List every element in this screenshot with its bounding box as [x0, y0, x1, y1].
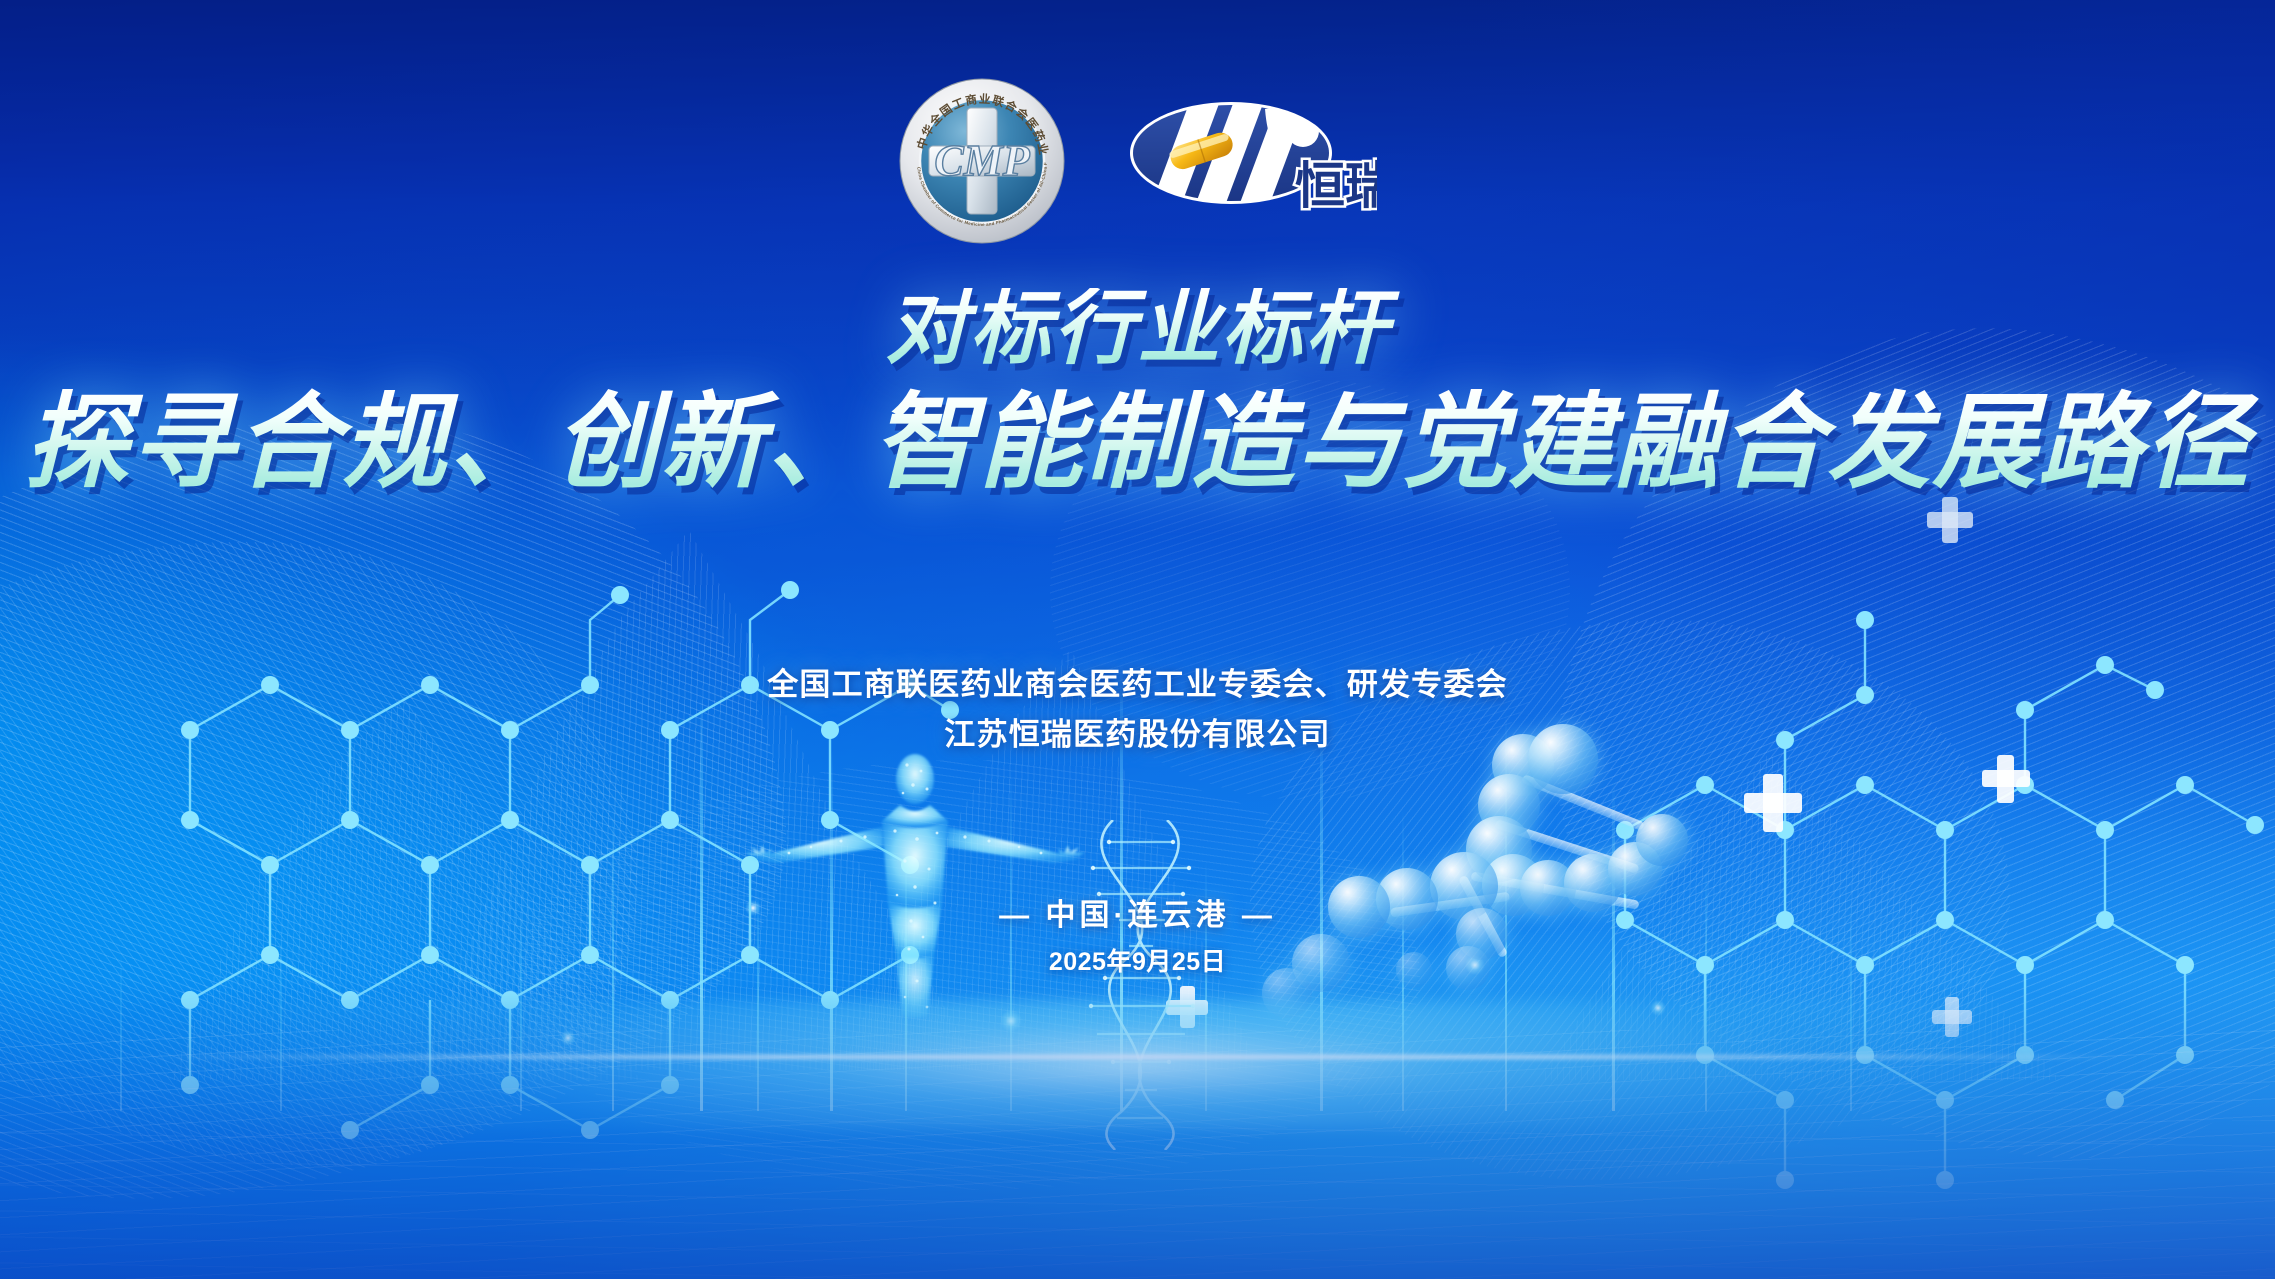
title-line-2: 探寻合规、创新、智能制造与党建融合发展路径: [0, 388, 2275, 498]
logo-row: CMP 中华全国工商业联合会医药业商会 China Chamber of Com…: [0, 78, 2275, 244]
location-text: — 中国·连云港 —: [0, 890, 2275, 934]
title-line-1: 对标行业标杆: [0, 288, 2275, 370]
medical-plus-icon: [1927, 512, 1973, 528]
hengrui-logo: 恒瑞: [1127, 99, 1377, 223]
organizers-block: 全国工商联医药业商会医药工业专委会、研发专委会 江苏恒瑞医药股份有限公司: [0, 660, 2275, 760]
bottom-fade: [0, 979, 2275, 1279]
cmp-emblem: CMP 中华全国工商业联合会医药业商会 China Chamber of Com…: [899, 78, 1065, 244]
hengrui-wordmark: 恒瑞: [1295, 158, 1377, 214]
medical-plus-icon: [1744, 793, 1802, 813]
medical-plus-icon: [1982, 770, 2030, 787]
organizer-line-2: 江苏恒瑞医药股份有限公司: [0, 710, 2275, 760]
poster-canvas: CMP 中华全国工商业联合会医药业商会 China Chamber of Com…: [0, 0, 2275, 1279]
place-date-block: — 中国·连云港 — 2025年9月25日: [0, 890, 2275, 978]
cmp-monogram: CMP: [934, 136, 1030, 185]
title-block: 对标行业标杆 探寻合规、创新、智能制造与党建融合发展路径: [0, 288, 2275, 498]
date-text: 2025年9月25日: [0, 942, 2275, 978]
organizer-line-1: 全国工商联医药业商会医药工业专委会、研发专委会: [0, 660, 2275, 710]
